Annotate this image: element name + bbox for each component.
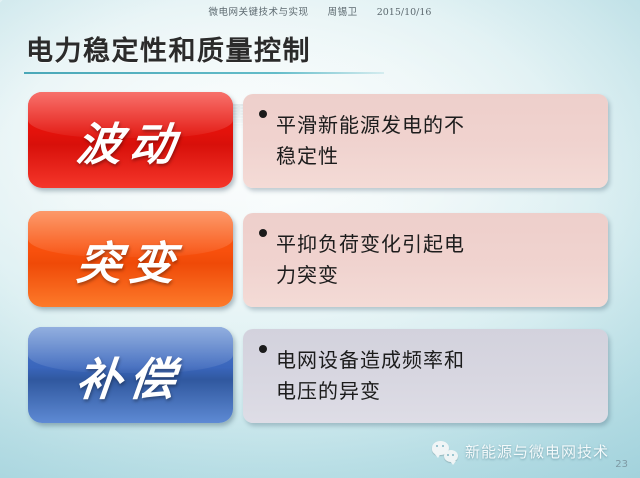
wechat-dot	[442, 445, 444, 447]
header-course-title: 微电网关键技术与实现	[209, 7, 309, 18]
description-line-1: 平抑负荷变化引起电	[276, 229, 465, 260]
description-line-2: 稳定性	[276, 141, 465, 172]
bullet-icon	[259, 110, 267, 118]
footer-watermark: 新能源与微电网技术	[432, 440, 609, 462]
slide-canvas: 微电网关键技术与实现 周锡卫 2015/10/16 电力稳定性和质量控制 电力稳…	[0, 0, 640, 478]
slide-header: 微电网关键技术与实现 周锡卫 2015/10/16	[0, 4, 640, 18]
content-row: 波动 平滑新能源发电的不 稳定性	[0, 92, 640, 190]
page-number: 23	[615, 459, 628, 470]
content-row: 突变 平抑负荷变化引起电 力突变	[0, 211, 640, 309]
wechat-icon	[432, 440, 458, 462]
wechat-dot	[452, 454, 454, 456]
tag-box-compensation[interactable]: 补偿	[28, 327, 233, 423]
title-underline	[24, 72, 384, 74]
footer-account-name: 新能源与微电网技术	[465, 441, 609, 462]
wechat-bubble-small	[444, 450, 458, 462]
header-author: 周锡卫	[328, 7, 358, 18]
description-panel: 电网设备造成频率和 电压的异变	[243, 329, 608, 423]
description-text: 平抑负荷变化引起电 力突变	[276, 229, 465, 291]
description-panel: 平抑负荷变化引起电 力突变	[243, 213, 608, 307]
tag-box-fluctuation[interactable]: 波动	[28, 92, 233, 188]
wechat-dot	[436, 445, 438, 447]
tag-box-sudden-change[interactable]: 突变	[28, 211, 233, 307]
page-title: 电力稳定性和质量控制	[26, 36, 616, 68]
bullet-icon	[259, 345, 267, 353]
header-date: 2015/10/16	[377, 7, 432, 18]
content-row: 补偿 电网设备造成频率和 电压的异变	[0, 327, 640, 425]
description-text: 电网设备造成频率和 电压的异变	[276, 345, 465, 407]
bullet-icon	[259, 229, 267, 237]
description-line-2: 电压的异变	[276, 376, 465, 407]
wechat-dot	[447, 454, 449, 456]
tag-label: 波动	[74, 108, 187, 173]
description-text: 平滑新能源发电的不 稳定性	[276, 110, 465, 172]
description-line-1: 平滑新能源发电的不	[276, 110, 465, 141]
title-block: 电力稳定性和质量控制 电力稳定性和质量控制	[26, 36, 616, 68]
tag-label: 补偿	[74, 343, 187, 408]
description-line-1: 电网设备造成频率和	[276, 345, 465, 376]
description-panel: 平滑新能源发电的不 稳定性	[243, 94, 608, 188]
tag-label: 突变	[74, 227, 187, 292]
description-line-2: 力突变	[276, 260, 465, 291]
